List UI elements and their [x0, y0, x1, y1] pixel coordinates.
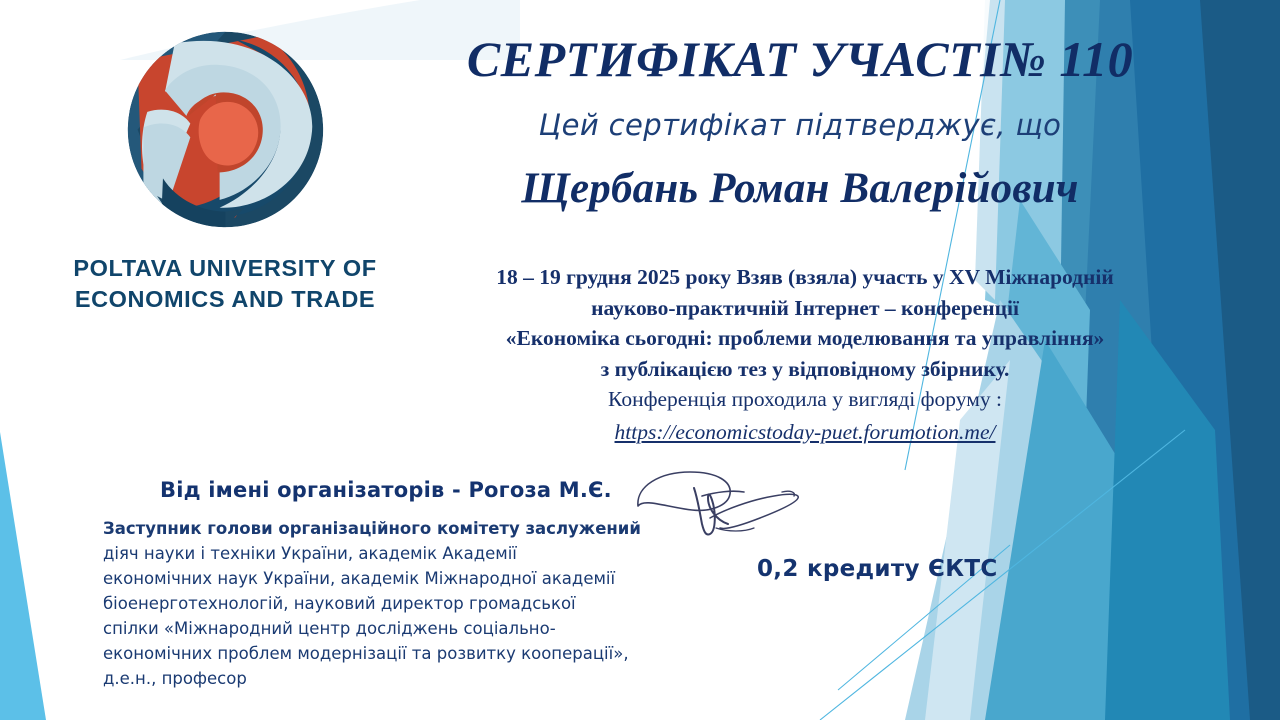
- certificate-page: POLTAVA UNIVERSITY OF ECONOMICS AND TRAD…: [0, 0, 1280, 720]
- number-sign-prefix: №: [1000, 31, 1046, 87]
- signatory-line-5: спілки «Міжнародний центр досліджень соц…: [103, 616, 743, 641]
- certificate-body: 18 – 19 грудня 2025 року Взяв (взяла) уч…: [420, 262, 1190, 447]
- signatory-line-3: економічних наук України, академік Міжна…: [103, 566, 743, 591]
- certificate-number: № 110: [1000, 31, 1133, 87]
- signatory-description: Заступник голови організаційного комітет…: [103, 516, 743, 692]
- certificate-title-text: СЕРТИФІКАТ УЧАСТІ: [467, 31, 1000, 87]
- signature-attribution: Від імені організаторів - Рогоза М.Є.: [160, 478, 612, 502]
- certificate-number-value: 110: [1059, 31, 1133, 87]
- logo-text-line-2: ECONOMICS AND TRADE: [50, 284, 400, 315]
- certificate-subtitle: Цей сертифікат підтверджує, що: [400, 108, 1200, 142]
- recipient-name: Щербань Роман Валерійович: [400, 164, 1200, 213]
- left-wedge-shape: [0, 432, 46, 720]
- poltava-university-logo-icon: [118, 22, 333, 237]
- body-line-5: Конференція проходила у вигляді форуму :: [420, 384, 1190, 415]
- conference-forum-link[interactable]: https://economicstoday-puet.forumotion.m…: [615, 417, 996, 448]
- ects-credits-value: 0,2 кредиту ЄКТС: [757, 556, 998, 582]
- signatory-line-4: біоенерготехнологій, науковий директор г…: [103, 591, 743, 616]
- body-url-wrap: https://economicstoday-puet.forumotion.m…: [420, 415, 1190, 448]
- signatory-line-7: д.е.н., професор: [103, 666, 743, 691]
- certificate-title: СЕРТИФІКАТ УЧАСТІ№ 110: [400, 34, 1200, 84]
- certificate-header: СЕРТИФІКАТ УЧАСТІ№ 110 Цей сертифікат пі…: [400, 34, 1200, 213]
- body-line-2: науково-практичній Інтернет – конференці…: [420, 293, 1190, 324]
- signatory-line-1: Заступник голови організаційного комітет…: [103, 516, 743, 541]
- signatory-line-2: діяч науки і техніки України, академік А…: [103, 541, 743, 566]
- signatory-line-6: економічних проблем модернізації та розв…: [103, 641, 743, 666]
- body-line-4: з публікацією тез у відповідному збірник…: [420, 354, 1190, 385]
- body-line-1: 18 – 19 грудня 2025 року Взяв (взяла) уч…: [420, 262, 1190, 293]
- logo-wordmark: POLTAVA UNIVERSITY OF ECONOMICS AND TRAD…: [50, 253, 400, 316]
- body-line-3: «Економіка сьогодні: проблеми моделюванн…: [420, 323, 1190, 354]
- university-logo-block: POLTAVA UNIVERSITY OF ECONOMICS AND TRAD…: [50, 22, 400, 316]
- logo-text-line-1: POLTAVA UNIVERSITY OF: [50, 253, 400, 284]
